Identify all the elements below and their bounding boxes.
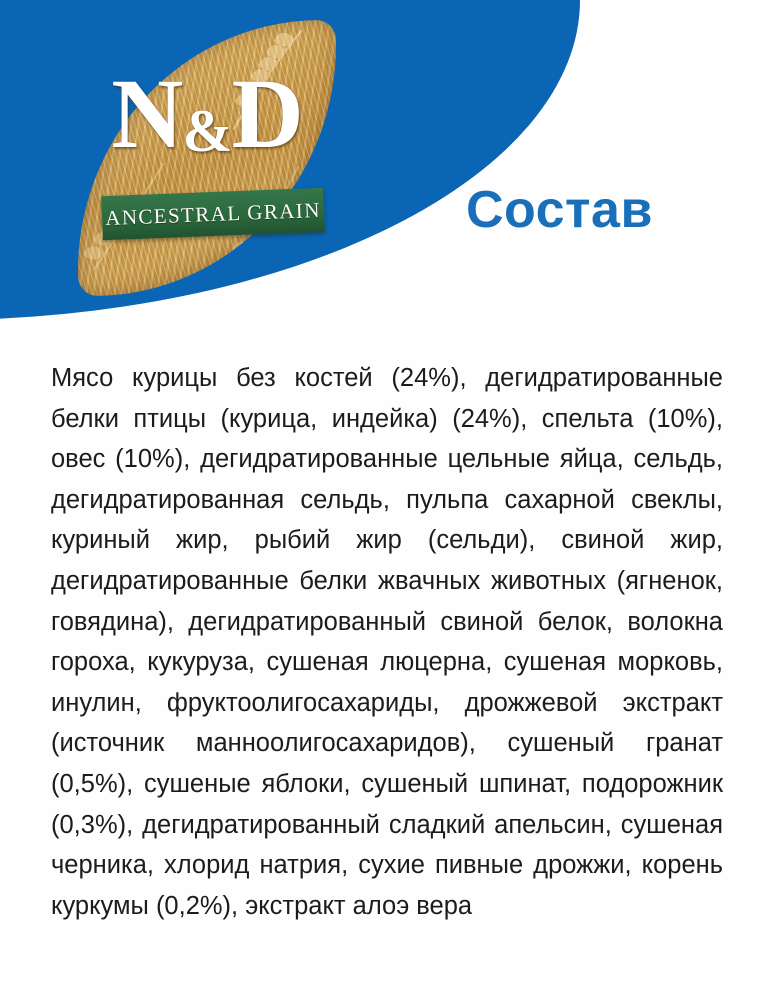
ingredients-text: Мясо курицы без костей (24%), дегидратир… [51,358,723,926]
page-title: Состав [466,184,653,236]
logo-ampersand: & [183,98,232,164]
brand-logo: N&D ANCESTRAL GRAIN [76,22,338,294]
ingredients-page: N&D ANCESTRAL GRAIN Состав Мясо курицы б… [0,0,773,1000]
ingredients-section: Мясо курицы без костей (24%), дегидратир… [51,358,723,926]
logo-tagline-banner: ANCESTRAL GRAIN [101,188,325,240]
logo-letter-n: N [111,58,182,169]
page-header: N&D ANCESTRAL GRAIN Состав [0,0,773,330]
logo-wordmark: N&D [76,64,338,164]
logo-letter-d: D [231,58,302,169]
logo-tagline-text: ANCESTRAL GRAIN [105,197,321,230]
